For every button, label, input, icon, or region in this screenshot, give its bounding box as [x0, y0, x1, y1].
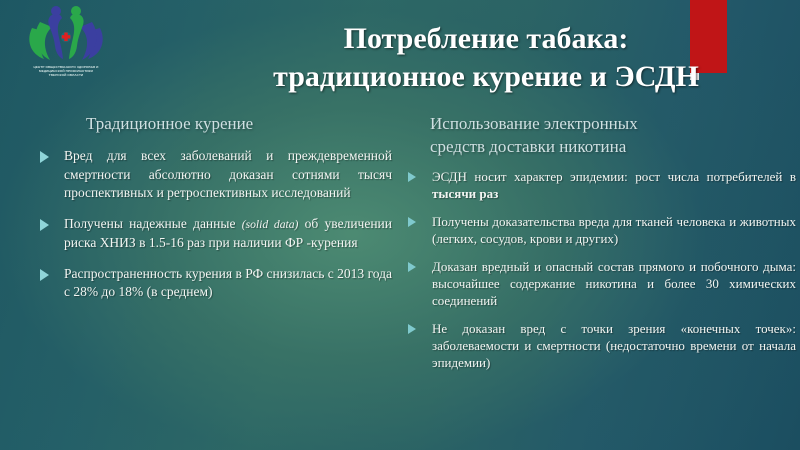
bullet-text: Не доказан вред с точки зрения «конечных…	[432, 321, 796, 370]
bullet-triangle-icon	[40, 151, 49, 163]
logo-caption: ЦЕНТР ОБЩЕСТВЕННОГО ЗДОРОВЬЯ И МЕДИЦИНСК…	[18, 65, 114, 78]
bullet-item: Вред для всех заболеваний и преждевремен…	[36, 147, 392, 203]
organization-logo: ЦЕНТР ОБЩЕСТВЕННОГО ЗДОРОВЬЯ И МЕДИЦИНСК…	[18, 2, 114, 88]
bullet-item: Не доказан вред с точки зрения «конечных…	[404, 320, 796, 371]
slide-title: Потребление табака: традиционное курение…	[236, 20, 736, 96]
bullet-triangle-icon	[40, 219, 49, 231]
logo-emblem-icon	[18, 2, 114, 64]
bullet-list-electronic-nicotine-delivery: ЭСДН носит характер эпидемии: рост числа…	[404, 168, 796, 371]
bullet-item: Получены надежные данные (solid data) об…	[36, 215, 392, 253]
bullet-text-run: (solid data)	[242, 218, 299, 231]
bullet-text: ЭСДН носит характер эпидемии: рост числа…	[432, 169, 796, 201]
bullet-text: Получены доказательства вреда для тканей…	[432, 214, 796, 246]
bullet-text-run: Получены надежные данные	[64, 216, 242, 231]
slide-title-line-2: традиционное курение и ЭСДН	[236, 58, 736, 96]
bullet-text: Доказан вредный и опасный состав прямого…	[432, 259, 796, 308]
presentation-slide: ЦЕНТР ОБЩЕСТВЕННОГО ЗДОРОВЬЯ И МЕДИЦИНСК…	[0, 0, 800, 450]
bullet-text-run: Вред для всех заболеваний и преждевремен…	[64, 148, 392, 200]
column-traditional-smoking: Традиционное курение Вред для всех забол…	[36, 112, 392, 314]
bullet-text-run: тысячи раз	[432, 186, 498, 201]
column-heading-line-1: Использование электронных	[430, 112, 796, 135]
bullet-triangle-icon	[408, 172, 416, 182]
bullet-triangle-icon	[408, 324, 416, 334]
logo-caption-line-3: ТВЕРСКОЙ ОБЛАСТИ	[24, 73, 108, 77]
column-heading-line-2: средств доставки никотина	[430, 135, 796, 158]
bullet-triangle-icon	[40, 269, 49, 281]
bullet-text-run: Получены доказательства вреда для тканей…	[432, 214, 796, 246]
bullet-text-run: ЭСДН носит характер эпидемии: рост числа…	[432, 169, 796, 184]
column-electronic-nicotine-delivery: Использование электронных средств достав…	[404, 112, 796, 382]
column-heading-traditional-smoking: Традиционное курение	[36, 112, 392, 135]
bullet-text: Распространенность курения в РФ снизилас…	[64, 266, 392, 300]
bullet-text: Вред для всех заболеваний и преждевремен…	[64, 148, 392, 200]
bullet-item: Доказан вредный и опасный состав прямого…	[404, 258, 796, 309]
bullet-list-traditional-smoking: Вред для всех заболеваний и преждевремен…	[36, 147, 392, 302]
bullet-item: Получены доказательства вреда для тканей…	[404, 213, 796, 247]
bullet-text-run: Распространенность курения в РФ снизилас…	[64, 266, 392, 300]
bullet-triangle-icon	[408, 262, 416, 272]
bullet-text-run: Не доказан вред с точки зрения «конечных…	[432, 321, 796, 370]
column-heading-electronic-nicotine-delivery: Использование электронных средств достав…	[404, 112, 796, 158]
slide-title-line-1: Потребление табака:	[236, 20, 736, 58]
bullet-text-run: Доказан вредный и опасный состав прямого…	[432, 259, 796, 308]
bullet-item: ЭСДН носит характер эпидемии: рост числа…	[404, 168, 796, 202]
bullet-text: Получены надежные данные (solid data) об…	[64, 216, 392, 251]
bullet-triangle-icon	[408, 217, 416, 227]
bullet-item: Распространенность курения в РФ снизилас…	[36, 265, 392, 302]
